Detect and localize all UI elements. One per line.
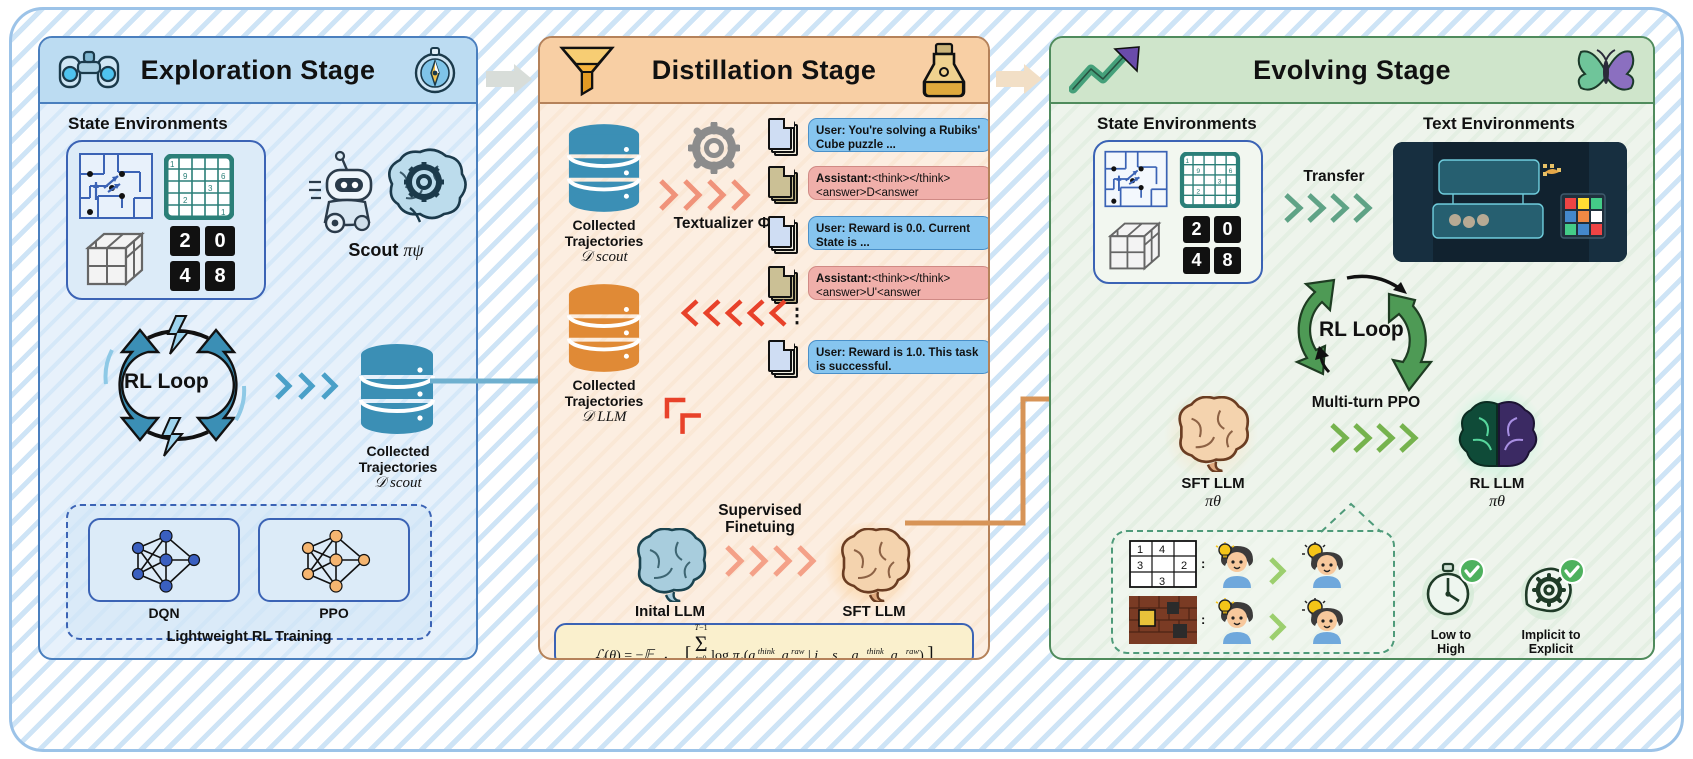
rl-llm-label: RL LLM πθ	[1443, 476, 1551, 511]
chevron-icon	[658, 178, 680, 212]
chevron-icon	[682, 178, 704, 212]
server-rack-illustration	[1393, 142, 1627, 262]
person-thinking-icon	[1213, 542, 1261, 588]
chat-bubble-user-2: User: Reward is 0.0. Current State is ..…	[808, 216, 990, 250]
brain-initial-icon	[624, 528, 714, 602]
ppo-box	[258, 518, 410, 602]
evolving-rl-loop-label: RL Loop	[1319, 318, 1404, 342]
svg-text:6: 6	[1229, 168, 1233, 175]
tile-8: 8	[1214, 247, 1241, 274]
person-idea-icon	[1299, 598, 1351, 644]
exploration-collected-label: Collected Trajectories 𝒟 scout	[340, 444, 456, 492]
chevron-left-icon	[746, 298, 766, 328]
tile-4: 4	[1183, 247, 1210, 274]
svg-text:9: 9	[1196, 168, 1200, 175]
maze-icon	[1103, 150, 1169, 208]
rubiks-cube-icon	[1105, 216, 1175, 276]
panel-distillation-stage: Distillation Stage	[538, 36, 990, 660]
arrow-explore-to-distill	[486, 62, 534, 96]
collect-back-chevrons	[680, 298, 788, 328]
pipeline-figure: Exploration Stage State Environments	[0, 0, 1693, 759]
chevron-icon	[1267, 556, 1289, 586]
bubble-role: Assistant:	[816, 173, 872, 185]
colon-2: :	[1201, 612, 1205, 627]
panel-evolving-stage: Evolving Stage State Environments Text E…	[1049, 36, 1655, 660]
svg-text:1: 1	[1185, 158, 1189, 165]
neural-net-blue-icon	[128, 530, 204, 594]
chevron-icon	[1267, 612, 1289, 642]
chevron-icon	[748, 544, 770, 578]
brain-rl-icon	[1457, 396, 1539, 474]
chevron-left-icon	[680, 298, 700, 328]
svg-text:2: 2	[1181, 560, 1187, 572]
gear-head-check-icon	[1513, 554, 1587, 626]
tile-0: 0	[1214, 216, 1241, 243]
mini-sudoku-icon: 1 4 3 2 3	[1129, 540, 1197, 588]
distill-scout-db-label: Collected Trajectories 𝒟 scout	[548, 218, 660, 266]
bubble-role: User:	[816, 125, 845, 137]
chevron-icon	[1329, 422, 1351, 454]
svg-text:3: 3	[1159, 576, 1165, 588]
evolving-body: State Environments Text Environments	[1051, 104, 1653, 658]
flask-icon	[918, 42, 970, 98]
chevron-icon	[1398, 422, 1420, 454]
chevron-icon	[1283, 192, 1305, 224]
document-stack-icon	[768, 118, 798, 156]
chevron-left-icon	[702, 298, 722, 328]
svg-text:3: 3	[1137, 560, 1143, 572]
svg-text:2: 2	[1196, 189, 1200, 196]
tile-8: 8	[205, 261, 235, 291]
finetuning-chevrons	[724, 544, 818, 578]
chevron-icon	[706, 178, 728, 212]
compass-icon	[412, 46, 458, 94]
sudoku-icon: 196 321	[164, 154, 234, 220]
document-stack-icon	[768, 216, 798, 254]
text-environment-thumbnail	[1393, 142, 1627, 262]
exploration-chevrons	[274, 371, 340, 401]
tile-4: 4	[170, 261, 200, 291]
distillation-header: Distillation Stage	[540, 38, 988, 104]
panel-exploration-stage: Exploration Stage State Environments	[38, 36, 478, 660]
chevron-icon	[1375, 422, 1397, 454]
colon-1: :	[1201, 556, 1205, 571]
database-scout-icon	[358, 342, 436, 436]
outcome-efficiency-label: Low to High Efficiency	[1401, 628, 1501, 660]
evolving-state-env-title: State Environments	[1097, 114, 1257, 134]
distillation-body: Collected Trajectories 𝒟 scout	[540, 104, 988, 658]
bubble-role: Assistant:	[816, 273, 872, 285]
bubble-role: User:	[816, 223, 845, 235]
chevron-icon	[1329, 192, 1351, 224]
funnel-icon	[558, 42, 616, 98]
dqn-box	[88, 518, 240, 602]
svg-text:4: 4	[1159, 544, 1165, 556]
sudoku-icon: 196 321	[1179, 152, 1241, 208]
chat-bubble-assistant-2: Assistant:<think></think><answer>U'<answ…	[808, 266, 990, 300]
exploration-header: Exploration Stage	[40, 38, 476, 104]
gear-icon	[688, 122, 740, 174]
2048-icon: 2 0 4 8	[1183, 216, 1241, 274]
chevron-icon	[772, 544, 794, 578]
dqn-label: DQN	[88, 606, 240, 622]
maze-icon	[78, 152, 154, 220]
brain-sft-icon	[1165, 396, 1257, 472]
chevron-icon	[730, 178, 752, 212]
collect-diagonal-chevrons	[653, 386, 705, 438]
neural-net-orange-icon	[298, 530, 374, 594]
svg-text:1: 1	[1137, 544, 1143, 556]
messages-ellipsis: ⋮	[787, 310, 807, 322]
arrow-distill-to-evolve	[996, 62, 1044, 96]
mini-sokoban-icon	[1129, 596, 1197, 644]
exploration-rl-loop-label: RL Loop	[124, 370, 209, 394]
tile-2: 2	[170, 226, 200, 256]
document-stack-icon	[768, 340, 798, 378]
chat-bubble-user-3: User: Reward is 1.0. This task is succes…	[808, 340, 990, 374]
sft-loss-formula: ℒ(θ) = −𝔼τ~𝚫LLM [ T−1Σt=0 log πθ(atthink…	[594, 624, 933, 660]
butterfly-icon	[1577, 46, 1635, 94]
dashed-pointer	[1319, 502, 1385, 534]
distillation-title: Distillation Stage	[652, 55, 876, 86]
sft-loss-formula-box: ℒ(θ) = −𝔼τ~𝚫LLM [ T−1Σt=0 log πθ(atthink…	[554, 623, 974, 660]
ppo-label: PPO	[258, 606, 410, 622]
outcome-thinking-label: Implicit to Explicit Thinking	[1499, 628, 1603, 660]
evolving-output-chevrons	[1329, 422, 1420, 454]
evolving-title: Evolving Stage	[1253, 55, 1451, 86]
chevron-icon	[297, 371, 317, 401]
chevron-icon	[724, 544, 746, 578]
svg-text:1: 1	[170, 160, 175, 169]
person-idea-icon	[1299, 542, 1351, 588]
distill-llm-db-label: Collected Trajectories 𝒟 LLM	[548, 378, 660, 426]
exploration-state-env-box: 196 321	[66, 140, 266, 300]
rubiks-cube-icon	[82, 226, 160, 292]
exploration-body: State Environments	[40, 104, 476, 658]
exploration-state-env-title: State Environments	[68, 114, 228, 134]
stopwatch-check-icon	[1415, 554, 1487, 626]
chevron-left-icon	[768, 298, 788, 328]
chat-bubble-assistant-1: Assistant:<think></think><answer>D<answe…	[808, 166, 990, 200]
exploration-title: Exploration Stage	[141, 55, 376, 86]
evolving-header: Evolving Stage	[1051, 38, 1653, 104]
evolving-state-env-box: 196 321 2 0 4	[1093, 140, 1263, 284]
svg-text:1: 1	[221, 208, 226, 217]
textualizer-chevrons	[658, 178, 752, 212]
database-scout-icon	[566, 122, 642, 214]
database-llm-icon	[566, 282, 642, 374]
svg-text:3: 3	[208, 184, 213, 193]
robot-icon	[305, 150, 383, 236]
chevron-left-icon	[724, 298, 744, 328]
lightweight-rl-training-label: Lightweight RL Training	[66, 629, 432, 645]
multi-turn-ppo-label: Multi-turn PPO	[1281, 394, 1451, 411]
chevron-icon	[1352, 422, 1374, 454]
tile-0: 0	[205, 226, 235, 256]
2048-icon: 2 0 4 8	[170, 226, 235, 291]
scout-symbol: πψ	[403, 240, 423, 260]
svg-text:9: 9	[183, 172, 188, 181]
chevron-icon	[1352, 192, 1374, 224]
svg-text:6: 6	[221, 172, 226, 181]
svg-text:1: 1	[1229, 199, 1233, 206]
svg-text:2: 2	[183, 196, 188, 205]
trending-up-arrow-icon	[1069, 45, 1145, 95]
svg-text:3: 3	[1218, 178, 1222, 185]
person-thinking-icon	[1213, 598, 1261, 644]
binoculars-icon	[58, 49, 120, 91]
chat-bubble-user-1: User: You're solving a Rubiks' Cube puzz…	[808, 118, 990, 152]
evolving-sft-llm-label: SFT LLM πθ	[1159, 476, 1267, 511]
chevron-icon	[796, 544, 818, 578]
document-stack-icon	[768, 166, 798, 204]
chevron-icon	[320, 371, 340, 401]
transfer-label: Transfer	[1279, 168, 1389, 185]
evolving-text-env-title: Text Environments	[1423, 114, 1575, 134]
bubble-role: User:	[816, 347, 845, 359]
chevron-icon	[1306, 192, 1328, 224]
transfer-chevrons	[1283, 192, 1374, 224]
chevron-icon	[274, 371, 294, 401]
tile-2: 2	[1183, 216, 1210, 243]
